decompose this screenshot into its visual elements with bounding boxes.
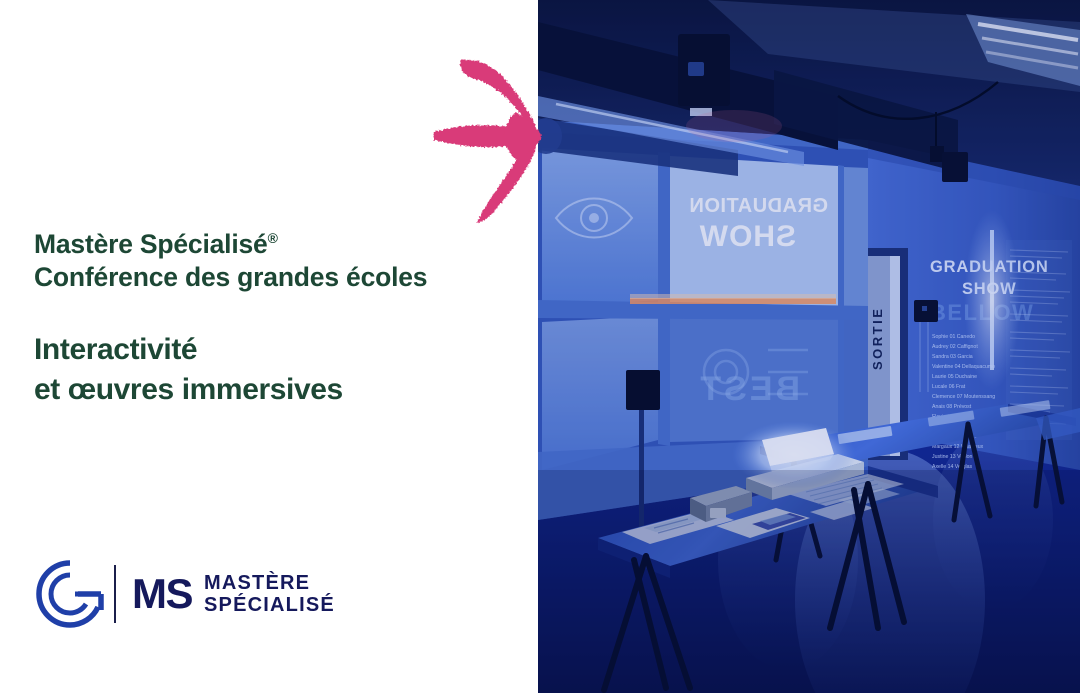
- ms-word-specialise: SPÉCIALISÉ: [204, 594, 335, 616]
- cge-monogram-icon: [34, 558, 106, 630]
- eyebrow-line-1: Mastère Spécialisé®: [34, 228, 514, 261]
- logo-lockup: MS MASTÈRE SPÉCIALISÉ: [34, 558, 335, 630]
- ms-word-mastere: MASTÈRE: [204, 572, 335, 594]
- subject-line-1: Interactivité: [34, 330, 514, 370]
- ms-lockup: MS MASTÈRE SPÉCIALISÉ: [132, 572, 335, 616]
- exhibition-photo: GRADUATION SHOW BELLOW Sophie 01 Canedo …: [538, 0, 1080, 693]
- logo-divider: [114, 565, 116, 623]
- pink-brush-arrow-icon: [432, 48, 554, 226]
- eyebrow-line-1-text: Mastère Spécialisé: [34, 229, 268, 259]
- eyebrow-line-2: Conférence des grandes écoles: [34, 261, 514, 294]
- exhibition-photo-illustration: GRADUATION SHOW BELLOW Sophie 01 Canedo …: [538, 0, 1080, 693]
- ms-wordmark: MASTÈRE SPÉCIALISÉ: [204, 572, 335, 616]
- subject-line-2: et œuvres immersives: [34, 370, 514, 410]
- presentation-slide: Mastère Spécialisé® Conférence des grand…: [0, 0, 1080, 693]
- eyebrow-heading: Mastère Spécialisé® Conférence des grand…: [34, 228, 514, 294]
- registered-mark: ®: [268, 230, 278, 246]
- ms-initials: MS: [132, 573, 192, 615]
- subject-heading: Interactivité et œuvres immersives: [34, 330, 514, 410]
